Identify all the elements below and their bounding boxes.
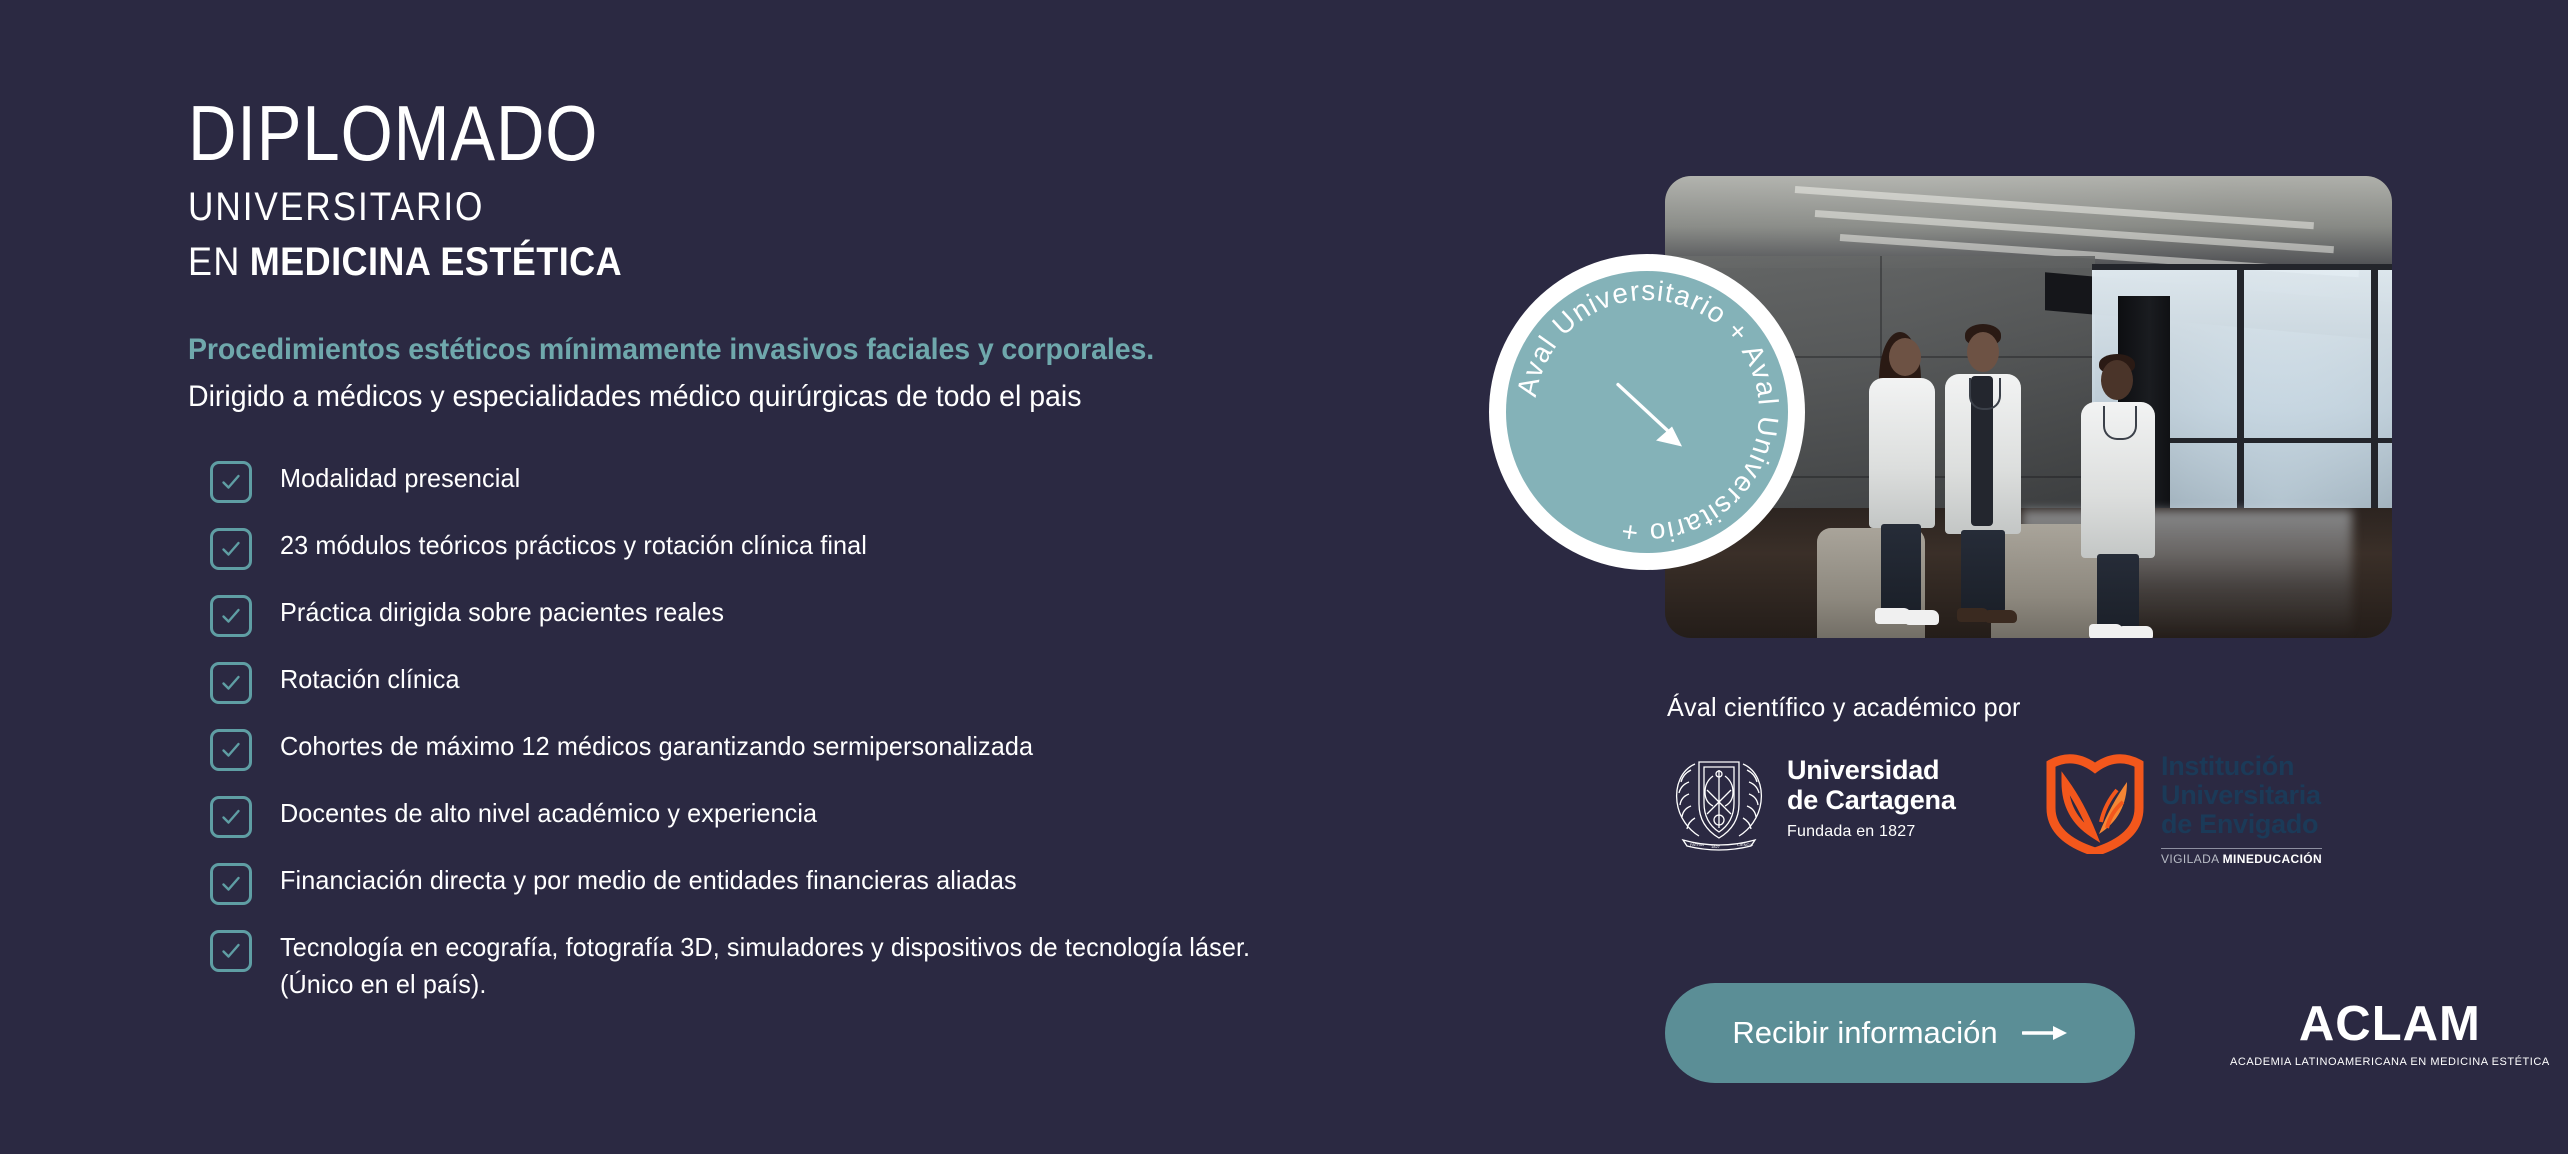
photo-legs — [1961, 530, 2005, 612]
cartagena-founded: Fundada en 1827 — [1787, 823, 1956, 841]
checkbox-checked-icon — [210, 729, 252, 771]
right-content-column: Aval Universitario + Aval Universitario … — [1665, 0, 2475, 1154]
list-item-label: Modalidad presencial — [280, 460, 520, 497]
list-item-label: Docentes de alto nivel académico y exper… — [280, 795, 817, 832]
list-item: 23 módulos teóricos prácticos y rotación… — [210, 527, 1598, 570]
photo-shoe — [2089, 624, 2123, 638]
photo-doctor-left — [1861, 334, 1947, 624]
checkbox-checked-icon — [210, 863, 252, 905]
svg-text:1827: 1827 — [1711, 844, 1721, 849]
list-item: Cohortes de máximo 12 médicos garantizan… — [210, 728, 1598, 771]
aclam-tagline: ACADEMIA LATINOAMERICANA EN MEDICINA EST… — [2230, 1056, 2550, 1068]
photo-shoe — [1905, 610, 1939, 625]
list-item: Financiación directa y por medio de enti… — [210, 862, 1598, 905]
photo-window-mullion — [2237, 264, 2244, 526]
logo-universidad-cartagena: PATRIA 1827 CIENCIA Universidad de Carta… — [1665, 742, 1956, 854]
list-item-label: Cohortes de máximo 12 médicos garantizan… — [280, 728, 1033, 765]
photo-head — [1967, 332, 1999, 372]
headline-program-name: MEDICINA ESTÉTICA — [250, 240, 622, 284]
photo-window-mullion — [2092, 264, 2392, 270]
subtitle-accent: Procedimientos estéticos mínimamente inv… — [188, 333, 1528, 367]
list-item-label: 23 módulos teóricos prácticos y rotación… — [280, 527, 867, 564]
logo-aclam: ACLAM ACADEMIA LATINOAMERICANA EN MEDICI… — [2230, 1000, 2550, 1068]
list-item: Práctica dirigida sobre pacientes reales — [210, 594, 1598, 637]
subtitle-audience: Dirigido a médicos y especialidades médi… — [188, 380, 1528, 414]
list-item: Docentes de alto nivel académico y exper… — [210, 795, 1598, 838]
cta-label: Recibir información — [1732, 1015, 1997, 1051]
list-item-label: Rotación clínica — [280, 661, 460, 698]
list-item-label: Tecnología en ecografía, fotografía 3D, … — [280, 929, 1250, 1003]
photo-lab-coat — [1869, 378, 1935, 528]
checkbox-checked-icon — [210, 595, 252, 637]
photo-legs — [1881, 524, 1921, 612]
cartagena-crest-icon: PATRIA 1827 CIENCIA — [1665, 742, 1773, 854]
endorsement-label: Ával científico y académico por — [1667, 692, 2021, 723]
headline-en-word: EN — [188, 240, 241, 284]
endorsement-logos: PATRIA 1827 CIENCIA Universidad de Carta… — [1665, 742, 2475, 860]
envigado-shield-icon — [2043, 746, 2149, 854]
list-item: Tecnología en ecografía, fotografía 3D, … — [210, 929, 1598, 1003]
aval-seal-badge: Aval Universitario + Aval Universitario … — [1489, 254, 1805, 570]
photo-window-mullion — [2371, 264, 2378, 526]
vigilada-mineducacion: MINEDUCACIÓN — [2223, 852, 2322, 866]
photo-stethoscope — [1969, 378, 2001, 410]
recibir-informacion-button[interactable]: Recibir información — [1665, 983, 2135, 1083]
checkbox-checked-icon — [210, 461, 252, 503]
arrow-down-right-icon — [1612, 379, 1688, 455]
svg-text:CIENCIA: CIENCIA — [1737, 842, 1754, 847]
checkbox-checked-icon — [210, 796, 252, 838]
cartagena-text: Universidad de Cartagena Fundada en 1827 — [1787, 755, 1956, 841]
envigado-vigilada: VIGILADA MINEDUCACIÓN — [2161, 848, 2322, 866]
photo-doctor-right — [2077, 354, 2167, 636]
photo-shoe — [1985, 610, 2017, 623]
photo-head — [1889, 338, 1921, 376]
checkbox-checked-icon — [210, 662, 252, 704]
headline-program-line: ENMEDICINA ESTÉTICA — [188, 240, 1457, 285]
photo-head — [2101, 360, 2133, 400]
photo-doctor-center — [1941, 324, 2033, 624]
headline-subtitle: UNIVERSITARIO — [188, 182, 1429, 232]
promo-banner: DIPLOMADO UNIVERSITARIO ENMEDICINA ESTÉT… — [0, 0, 2568, 1154]
checkbox-checked-icon — [210, 528, 252, 570]
list-item-label: Práctica dirigida sobre pacientes reales — [280, 594, 724, 631]
checkbox-checked-icon — [210, 930, 252, 972]
svg-text:PATRIA: PATRIA — [1690, 842, 1704, 847]
photo-legs — [2097, 554, 2139, 632]
aclam-wordmark: ACLAM — [2230, 1000, 2550, 1049]
photo-shoe — [2119, 626, 2153, 638]
envigado-title: Institución Universitaria de Envigado — [2161, 752, 2322, 839]
list-item: Rotación clínica — [210, 661, 1598, 704]
page-title: DIPLOMADO — [188, 96, 1401, 170]
left-content-column: DIPLOMADO UNIVERSITARIO ENMEDICINA ESTÉT… — [188, 96, 1598, 1003]
photo-stethoscope — [2103, 406, 2137, 440]
arrow-right-icon — [2022, 1023, 2068, 1043]
cartagena-title: Universidad de Cartagena — [1787, 755, 1956, 815]
vigilada-prefix: VIGILADA — [2161, 852, 2223, 866]
feature-checklist: Modalidad presencial 23 módulos teóricos… — [210, 460, 1598, 1003]
list-item: Modalidad presencial — [210, 460, 1598, 503]
list-item-label: Financiación directa y por medio de enti… — [280, 862, 1017, 899]
logo-envigado: Institución Universitaria de Envigado VI… — [2043, 746, 2322, 868]
envigado-text: Institución Universitaria de Envigado VI… — [2161, 752, 2322, 868]
